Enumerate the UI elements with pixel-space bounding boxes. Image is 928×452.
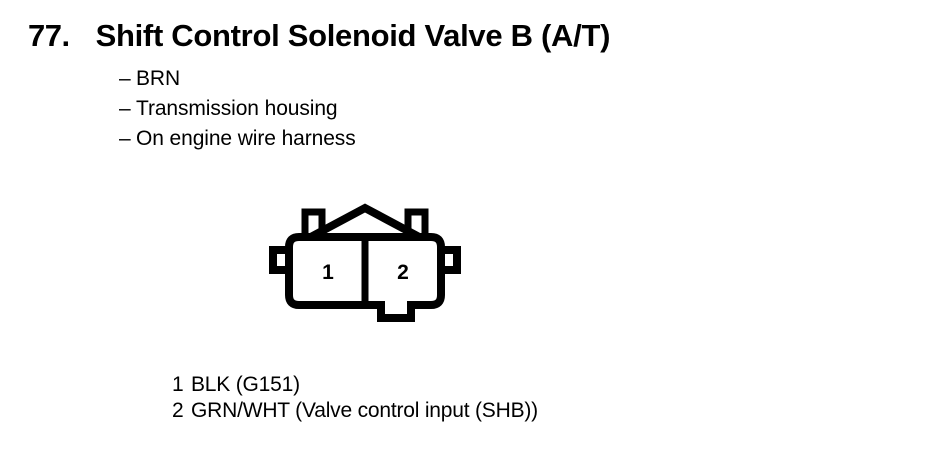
note-label: Transmission housing: [136, 97, 337, 121]
pin-legend: 1 BLK (G151) 2 GRN/WHT (Valve control in…: [172, 373, 538, 425]
legend-pin-description: BLK (G151): [191, 373, 300, 397]
connector-outline-svg: 1 2: [258, 195, 468, 330]
dash-marker: –: [119, 97, 136, 121]
connector-diagram: 1 2: [258, 195, 468, 330]
legend-row: 2 GRN/WHT (Valve control input (SHB)): [172, 399, 538, 425]
legend-pin-number: 1: [172, 373, 191, 397]
note-label: BRN: [136, 67, 180, 91]
page-title: 77. Shift Control Solenoid Valve B (A/T): [28, 18, 610, 54]
note-item: – BRN: [119, 67, 356, 97]
legend-row: 1 BLK (G151): [172, 373, 538, 399]
component-notes-list: – BRN – Transmission housing – On engine…: [119, 67, 356, 157]
legend-pin-number: 2: [172, 399, 191, 423]
cavity-number-1: 1: [322, 261, 334, 284]
note-item: – On engine wire harness: [119, 127, 356, 157]
cavity-number-2: 2: [397, 261, 409, 284]
dash-marker: –: [119, 67, 136, 91]
dash-marker: –: [119, 127, 136, 151]
component-title: Shift Control Solenoid Valve B (A/T): [96, 18, 611, 54]
item-number: 77.: [28, 18, 70, 54]
note-label: On engine wire harness: [136, 127, 356, 151]
note-item: – Transmission housing: [119, 97, 356, 127]
diagram-page: 77. Shift Control Solenoid Valve B (A/T)…: [0, 0, 928, 452]
legend-pin-description: GRN/WHT (Valve control input (SHB)): [191, 399, 538, 423]
